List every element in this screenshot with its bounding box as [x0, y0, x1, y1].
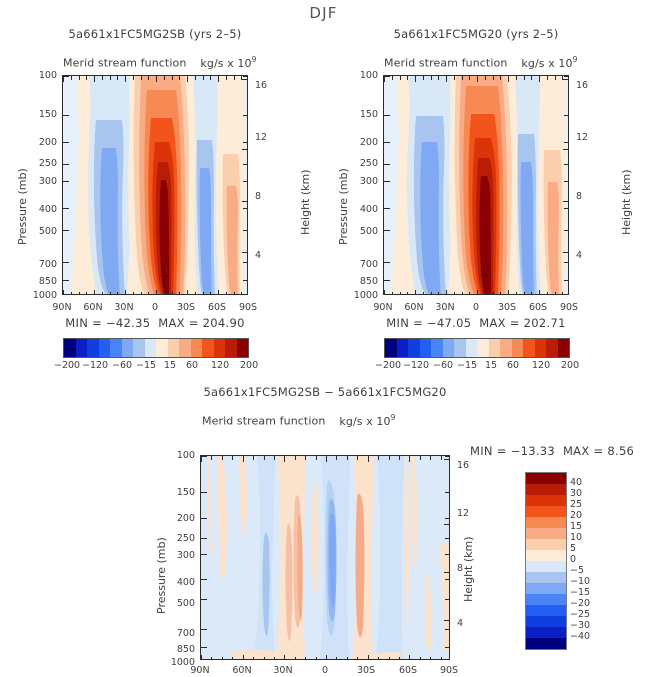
panel-difference-y2axis-label: Height (km) [462, 536, 475, 602]
colorbar-segment-10 [526, 583, 566, 594]
subtitle-units-exponent: 9 [391, 413, 396, 422]
panel-difference-contour-field [201, 456, 450, 660]
xtick-minor [547, 76, 548, 80]
panel-case-b-colorbar [384, 338, 570, 358]
xtick-mark-top-0 [384, 76, 385, 82]
panel-difference-colorbar [525, 472, 567, 650]
xtick-minor [79, 76, 80, 80]
xtick-0: 0 [462, 302, 490, 313]
xtick-minor [295, 456, 296, 460]
ytick-150: 150 [345, 109, 378, 120]
xtick-minor [431, 76, 432, 80]
xtick-minor [253, 456, 254, 460]
colorbar-segment-4 [526, 517, 566, 528]
colorbar-segment-10 [500, 339, 512, 357]
xtick-minor [336, 456, 337, 460]
cbar-b-label--120: −120 [403, 360, 429, 371]
panel-case-b-subtitle: Merid stream functionkg/s x 109 [384, 55, 577, 70]
colorbar-segment-0 [385, 339, 397, 357]
xtick-minor [110, 76, 111, 80]
ytick-mark-6 [384, 230, 390, 231]
xtick-mark-top-2 [125, 76, 126, 82]
xtick-minor [179, 76, 180, 80]
xtick-minor [485, 76, 486, 80]
colorbar-segment-12 [202, 339, 214, 357]
colorbar-segment-5 [443, 339, 455, 357]
cbar-a-label-60: 60 [186, 360, 198, 371]
colorbar-segment-2 [408, 339, 420, 357]
colorbar-segment-13 [526, 616, 566, 627]
ytick-mark-1 [384, 115, 390, 116]
colorbar-segment-4 [110, 339, 122, 357]
y2tick-16: 16 [576, 80, 588, 91]
panel-case-a-title: 5a661x1FC5MG2SB (yrs 2–5) [52, 27, 258, 41]
ytick-850: 850 [345, 276, 378, 287]
colorbar-segment-15 [558, 339, 570, 357]
xtick-minor [357, 456, 358, 460]
ytick-mark-1 [63, 115, 69, 116]
subtitle-variable: Merid stream function [63, 57, 186, 70]
cbar-a-label-15: 15 [164, 360, 176, 371]
xtick-90N: 90N [186, 665, 214, 676]
xtick-mark-top-1 [94, 76, 95, 82]
ytick-mark-8 [201, 647, 207, 648]
xtick-minor [516, 76, 517, 80]
cbar-a-label--120: −120 [82, 360, 108, 371]
colorbar-segment-3 [99, 339, 111, 357]
xtick-0: 0 [311, 665, 339, 676]
ytick-mark-4 [63, 181, 69, 182]
cbar-diff-label-13: −30 [570, 620, 590, 631]
xtick-minor [86, 76, 87, 80]
colorbar-segment-1 [397, 339, 409, 357]
xtick-minor [469, 76, 470, 80]
colorbar-segment-3 [526, 506, 566, 517]
xtick-30S: 30S [172, 302, 200, 313]
xtick-minor [133, 76, 134, 80]
xtick-minor [454, 76, 455, 80]
panel-case-b-title: 5a661x1FC5MG20 (yrs 2–5) [373, 27, 579, 41]
subtitle-units: kg/s x 10 [339, 415, 390, 428]
panel-case-b-min: MIN = −47.05 [386, 316, 471, 330]
panel-case-a-subtitle: Merid stream functionkg/s x 109 [63, 55, 256, 70]
y2tick-4: 4 [255, 250, 261, 261]
colorbar-segment-7 [145, 339, 157, 357]
colorbar-segment-1 [526, 484, 566, 495]
xtick-minor [347, 456, 348, 460]
season-title: DJF [0, 4, 647, 22]
y2tick-16: 16 [255, 80, 267, 91]
xtick-minor [389, 456, 390, 460]
xtick-minor [305, 456, 306, 460]
xtick-minor [378, 456, 379, 460]
ytick-mark-6 [63, 230, 69, 231]
xtick-mark-top-0 [63, 76, 64, 82]
cbar-b-label-15: 15 [485, 360, 497, 371]
colorbar-segment-13 [535, 339, 547, 357]
ytick-mark-7 [63, 262, 69, 263]
colorbar-segment-2 [526, 495, 566, 506]
ytick-150: 150 [24, 109, 57, 120]
xtick-60S: 60S [524, 302, 552, 313]
panel-difference-max: MAX = 8.56 [563, 444, 634, 458]
ytick-100: 100 [162, 450, 195, 461]
y2tick-8: 8 [255, 191, 261, 202]
cbar-diff-label-5: 10 [570, 532, 582, 543]
xtick-minor [562, 76, 563, 80]
cbar-a-label--200: −200 [54, 360, 80, 371]
ytick-mark-1 [201, 492, 207, 493]
subtitle-variable: Merid stream function [202, 415, 325, 428]
ytick-mark-4 [201, 554, 207, 555]
cbar-a-label-120: 120 [211, 360, 229, 371]
xtick-mark-top-0 [201, 456, 202, 462]
panel-case-a-contour-field [63, 76, 248, 295]
ytick-mark-8 [63, 280, 69, 281]
subtitle-units: kg/s x 10 [521, 57, 572, 70]
ytick-400: 400 [24, 204, 57, 215]
panel-case-b-minmax: MIN = −47.05 MAX = 202.71 [373, 316, 579, 330]
xtick-minor [148, 76, 149, 80]
panel-case-a-plot-area [62, 75, 248, 295]
xtick-mark-top-5 [218, 76, 219, 82]
y2tick-8: 8 [576, 191, 582, 202]
cbar-diff-label-3: 20 [570, 510, 582, 521]
colorbar-segment-3 [420, 339, 432, 357]
panel-case-b-contour-field [384, 76, 569, 295]
ytick-mark-7 [384, 262, 390, 263]
colorbar-segment-12 [526, 605, 566, 616]
xtick-mark-top-4 [368, 456, 369, 462]
xtick-minor [210, 76, 211, 80]
cbar-b-label-200: 200 [561, 360, 579, 371]
xtick-30N: 30N [431, 302, 459, 313]
xtick-60N: 60N [228, 665, 256, 676]
cbar-b-label-60: 60 [507, 360, 519, 371]
xtick-minor [500, 76, 501, 80]
xtick-minor [441, 456, 442, 460]
cbar-diff-label-4: 15 [570, 521, 582, 532]
xtick-mark-top-3 [156, 76, 157, 82]
xtick-90S: 90S [435, 665, 463, 676]
colorbar-segment-10 [179, 339, 191, 357]
xtick-minor [438, 76, 439, 80]
colorbar-segment-14 [526, 627, 566, 638]
cbar-a-label-200: 200 [240, 360, 258, 371]
xtick-minor [203, 76, 204, 80]
xtick-90S: 90S [234, 302, 262, 313]
subtitle-units: kg/s x 10 [200, 57, 251, 70]
colorbar-segment-6 [133, 339, 145, 357]
cbar-b-label--15: −15 [457, 360, 477, 371]
xtick-mark-top-4 [508, 76, 509, 82]
colorbar-segment-8 [526, 561, 566, 572]
colorbar-segment-5 [122, 339, 134, 357]
xtick-mark-top-2 [446, 76, 447, 82]
xtick-minor [164, 76, 165, 80]
ytick-mark-5 [384, 208, 390, 209]
xtick-minor [399, 456, 400, 460]
xtick-minor [117, 76, 118, 80]
colorbar-segment-11 [512, 339, 524, 357]
colorbar-segment-0 [64, 339, 76, 357]
xtick-30N: 30N [110, 302, 138, 313]
colorbar-segment-7 [526, 550, 566, 561]
ytick-400: 400 [162, 577, 195, 588]
xtick-mark-top-2 [284, 456, 285, 462]
xtick-minor [555, 76, 556, 80]
colorbar-segment-12 [523, 339, 535, 357]
ytick-300: 300 [162, 550, 195, 561]
xtick-30S: 30S [493, 302, 521, 313]
panel-difference-min: MIN = −13.33 [470, 444, 555, 458]
xtick-minor [241, 76, 242, 80]
xtick-30N: 30N [269, 665, 297, 676]
ytick-100: 100 [24, 70, 57, 81]
ytick-500: 500 [345, 226, 378, 237]
xtick-minor [420, 456, 421, 460]
cbar-a-label--60: −60 [112, 360, 132, 371]
xtick-minor [141, 76, 142, 80]
xtick-minor [264, 456, 265, 460]
colorbar-segment-13 [214, 339, 226, 357]
colorbar-segment-8 [477, 339, 489, 357]
xtick-minor [531, 76, 532, 80]
cbar-diff-label-8: −5 [570, 565, 584, 576]
ytick-mark-2 [201, 518, 207, 519]
xtick-mark-top-4 [187, 76, 188, 82]
xtick-minor [462, 76, 463, 80]
xtick-60S: 60S [203, 302, 231, 313]
cbar-a-label--15: −15 [136, 360, 156, 371]
xtick-minor [226, 76, 227, 80]
xtick-minor [524, 76, 525, 80]
y2tick-12: 12 [255, 132, 267, 143]
colorbar-segment-11 [526, 594, 566, 605]
panel-case-b-plot-area [383, 75, 569, 295]
cbar-diff-label-10: −15 [570, 587, 590, 598]
colorbar-segment-15 [526, 638, 566, 649]
ytick-700: 700 [162, 628, 195, 639]
xtick-90N: 90N [369, 302, 397, 313]
xtick-minor [232, 456, 233, 460]
colorbar-segment-6 [526, 539, 566, 550]
cbar-diff-label-9: −10 [570, 576, 590, 587]
y2tick-12: 12 [457, 508, 469, 519]
ytick-mark-3 [201, 538, 207, 539]
xtick-minor [316, 456, 317, 460]
cbar-b-label-120: 120 [532, 360, 550, 371]
xtick-60S: 60S [394, 665, 422, 676]
ytick-mark-6 [201, 599, 207, 600]
ytick-mark-3 [63, 164, 69, 165]
panel-difference-plot-area [200, 455, 450, 660]
xtick-minor [423, 76, 424, 80]
xtick-minor [71, 76, 72, 80]
y2tick-4: 4 [457, 618, 463, 629]
ytick-1000: 1000 [340, 290, 378, 301]
xtick-minor [430, 456, 431, 460]
panel-difference-subtitle: Merid stream functionkg/s x 109 [202, 413, 395, 428]
xtick-mark-top-5 [539, 76, 540, 82]
panel-difference-title: 5a661x1FC5MG2SB − 5a661x1FC5MG20 [175, 385, 475, 399]
panel-case-a-min: MIN = −42.35 [65, 316, 150, 330]
xtick-minor [172, 76, 173, 80]
subtitle-units-exponent: 9 [573, 55, 578, 64]
xtick-minor [234, 76, 235, 80]
cbar-diff-label-6: 5 [570, 543, 576, 554]
xtick-30S: 30S [352, 665, 380, 676]
colorbar-segment-4 [431, 339, 443, 357]
panel-case-a-max: MAX = 204.90 [158, 316, 244, 330]
ytick-850: 850 [24, 276, 57, 287]
xtick-minor [407, 76, 408, 80]
panel-case-a-colorbar [63, 338, 249, 358]
colorbar-segment-11 [191, 339, 203, 357]
cbar-b-label--200: −200 [375, 360, 401, 371]
cbar-diff-label-14: −40 [570, 631, 590, 642]
ytick-500: 500 [162, 598, 195, 609]
ytick-1000: 1000 [19, 290, 57, 301]
xtick-60N: 60N [400, 302, 428, 313]
colorbar-segment-2 [87, 339, 99, 357]
panel-case-a-y2axis-label: Height (km) [299, 169, 312, 235]
cbar-diff-label-2: 25 [570, 499, 582, 510]
ytick-150: 150 [162, 487, 195, 498]
panel-case-b-y2axis-label: Height (km) [620, 169, 633, 235]
panel-difference-minmax: MIN = −13.33 MAX = 8.56 [470, 444, 634, 458]
xtick-minor [195, 76, 196, 80]
ytick-700: 700 [24, 259, 57, 270]
xtick-minor [493, 76, 494, 80]
colorbar-segment-9 [489, 339, 501, 357]
ytick-mark-8 [384, 280, 390, 281]
ytick-mark-5 [63, 208, 69, 209]
xtick-minor [222, 456, 223, 460]
ytick-mark-4 [384, 181, 390, 182]
ytick-500: 500 [24, 226, 57, 237]
xtick-mark-top-3 [477, 76, 478, 82]
colorbar-segment-0 [526, 473, 566, 484]
colorbar-segment-9 [168, 339, 180, 357]
xtick-minor [392, 76, 393, 80]
xtick-minor [102, 76, 103, 80]
colorbar-segment-7 [466, 339, 478, 357]
y2tick-12: 12 [576, 132, 588, 143]
ytick-300: 300 [24, 176, 57, 187]
xtick-mark-top-1 [415, 76, 416, 82]
ytick-250: 250 [162, 533, 195, 544]
xtick-minor [274, 456, 275, 460]
ytick-250: 250 [345, 158, 378, 169]
colorbar-segment-8 [156, 339, 168, 357]
ytick-300: 300 [345, 176, 378, 187]
cbar-diff-label-12: −25 [570, 609, 590, 620]
colorbar-segment-9 [526, 572, 566, 583]
subtitle-units-exponent: 9 [252, 55, 257, 64]
ytick-400: 400 [345, 204, 378, 215]
xtick-90S: 90S [555, 302, 583, 313]
cbar-diff-label-7: 0 [570, 554, 576, 565]
colorbar-segment-1 [76, 339, 88, 357]
ytick-200: 200 [345, 137, 378, 148]
y2tick-16: 16 [457, 460, 469, 471]
y2tick-4: 4 [576, 250, 582, 261]
colorbar-segment-5 [526, 528, 566, 539]
xtick-minor [211, 456, 212, 460]
cbar-diff-label-11: −20 [570, 598, 590, 609]
ytick-850: 850 [162, 644, 195, 655]
xtick-mark-top-5 [409, 456, 410, 462]
xtick-minor [400, 76, 401, 80]
ytick-700: 700 [345, 259, 378, 270]
colorbar-segment-15 [237, 339, 249, 357]
ytick-mark-7 [201, 629, 207, 630]
ytick-100: 100 [345, 70, 378, 81]
panel-case-a-minmax: MIN = −42.35 MAX = 204.90 [52, 316, 258, 330]
cbar-b-label--60: −60 [433, 360, 453, 371]
ytick-mark-2 [384, 142, 390, 143]
cbar-diff-label-0: 40 [570, 477, 582, 488]
ytick-250: 250 [24, 158, 57, 169]
colorbar-segment-14 [225, 339, 237, 357]
xtick-mark-top-3 [326, 456, 327, 462]
ytick-200: 200 [162, 513, 195, 524]
ytick-mark-2 [63, 142, 69, 143]
xtick-90N: 90N [48, 302, 76, 313]
ytick-200: 200 [24, 137, 57, 148]
xtick-60N: 60N [79, 302, 107, 313]
xtick-0: 0 [141, 302, 169, 313]
panel-case-b-max: MAX = 202.71 [479, 316, 565, 330]
colorbar-segment-6 [454, 339, 466, 357]
subtitle-variable: Merid stream function [384, 57, 507, 70]
colorbar-segment-14 [546, 339, 558, 357]
xtick-mark-top-1 [243, 456, 244, 462]
cbar-diff-label-1: 30 [570, 488, 582, 499]
ytick-mark-5 [201, 579, 207, 580]
ytick-mark-3 [384, 164, 390, 165]
y2tick-8: 8 [457, 563, 463, 574]
